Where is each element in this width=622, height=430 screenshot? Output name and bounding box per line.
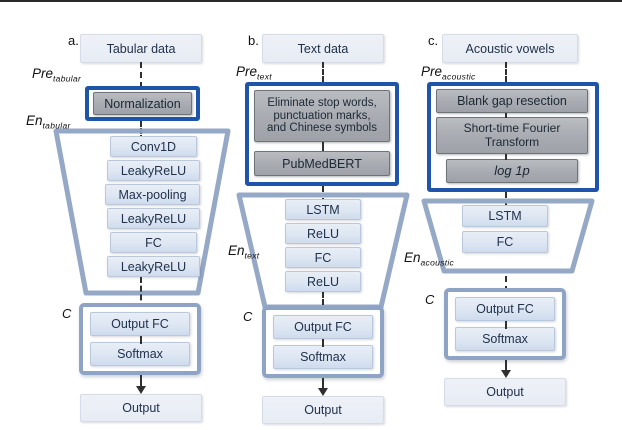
panel-c-pre-label: Preacoustic	[421, 64, 476, 82]
panel-c-pre-label-sub: acoustic	[442, 72, 476, 82]
panel-c-connector-input-pre	[505, 62, 507, 82]
panel-a-en-label-text: En	[26, 113, 43, 128]
panel-a-input-box: Tabular data	[80, 34, 202, 63]
panel-c-connector-pre-inner-2	[505, 154, 507, 160]
panel-b-en-block-2: ReLU	[285, 223, 361, 244]
panel-b-classifier-label: C	[243, 309, 252, 324]
panel-c-connector-pre-inner-1	[505, 113, 507, 118]
panel-c-en-block-2: FC	[462, 231, 548, 253]
panel-c-pre-block-stft: Short-time Fourier Transform	[436, 117, 588, 154]
panel-b-connector-input-pre	[322, 62, 324, 82]
panel-b-en-block-4: ReLU	[285, 271, 361, 292]
panel-a-pre-label-text: Pre	[32, 66, 53, 81]
panel-b-connector-pre-inner	[322, 142, 324, 151]
panel-b-cls-block-output-fc: Output FC	[273, 315, 373, 339]
panel-a-connector-fc-softmax	[140, 336, 142, 344]
panel-a-cls-block-softmax: Softmax	[90, 342, 190, 366]
panel-c-en-block-1: LSTM	[462, 205, 548, 227]
panel-a-output-arrowhead	[136, 386, 146, 394]
panel-a-en-block-2: LeakyReLU	[107, 160, 200, 181]
panel-b-output-box: Output	[262, 396, 384, 424]
panel-b-en-label-sub: text	[245, 251, 260, 261]
panel-c-en-label-text: En	[404, 250, 421, 265]
panel-c-output-arrowhead	[501, 370, 511, 378]
panel-c-connector-fc-softmax	[505, 321, 507, 329]
panel-letter-c: c.	[428, 33, 438, 48]
panel-a-pre-block-normalization: Normalization	[93, 92, 192, 115]
panel-a-en-block-1: Conv1D	[110, 136, 197, 157]
panel-c-output-box: Output	[444, 378, 566, 406]
panel-b-pre-label: Pretext	[236, 64, 272, 82]
panel-c-classifier-label: C	[425, 292, 434, 307]
panel-a-en-block-4: LeakyReLU	[107, 208, 200, 229]
panel-c-cls-block-output-fc: Output FC	[455, 297, 555, 321]
panel-b-pre-label-sub: text	[257, 72, 272, 82]
panel-b-output-arrowhead	[318, 388, 328, 396]
panel-c-pre-label-text: Pre	[421, 64, 442, 79]
panel-letter-a: a.	[68, 33, 79, 48]
panel-b-en-label-text: En	[228, 243, 245, 258]
panel-a-pre-label: Pretabular	[32, 66, 81, 84]
panel-a-connector-input-pre	[140, 62, 142, 88]
panel-a-classifier-label: C	[62, 306, 71, 321]
panel-c-pre-block-log1p: log 1p	[446, 159, 578, 183]
panel-b-input-box: Text data	[262, 34, 384, 63]
panel-a-en-block-5: FC	[110, 232, 197, 253]
figure-canvas: a. Tabular data Pretabular Normalization…	[0, 0, 622, 430]
panel-a-cls-block-output-fc: Output FC	[90, 312, 190, 336]
panel-b-pre-label-text: Pre	[236, 64, 257, 79]
panel-c-en-label: Enacoustic	[404, 250, 454, 268]
panel-c-input-box: Acoustic vowels	[442, 34, 578, 63]
panel-b-cls-block-softmax: Softmax	[273, 345, 373, 369]
panel-c-en-label-sub: acoustic	[421, 258, 455, 268]
panel-letter-b: b.	[248, 33, 259, 48]
panel-b-en-block-3: FC	[285, 247, 361, 268]
panel-c-pre-block-blank-gap: Blank gap resection	[436, 89, 588, 113]
panel-b-en-block-1: LSTM	[285, 199, 361, 220]
panel-a-pre-label-sub: tabular	[53, 74, 81, 84]
panel-c-cls-block-softmax: Softmax	[455, 327, 555, 351]
panel-a-output-box: Output	[80, 394, 202, 422]
panel-b-en-label: Entext	[228, 243, 259, 261]
panel-b-connector-fc-softmax	[322, 339, 324, 347]
panel-b-pre-block-cleanup: Eliminate stop words, punctuation marks,…	[254, 90, 390, 142]
panel-a-en-block-3: Max-pooling	[105, 184, 200, 205]
top-divider-rule	[0, 0, 622, 2]
panel-b-pre-block-pubmedbert: PubMedBERT	[254, 151, 390, 176]
panel-a-en-block-6: LeakyReLU	[107, 256, 200, 277]
